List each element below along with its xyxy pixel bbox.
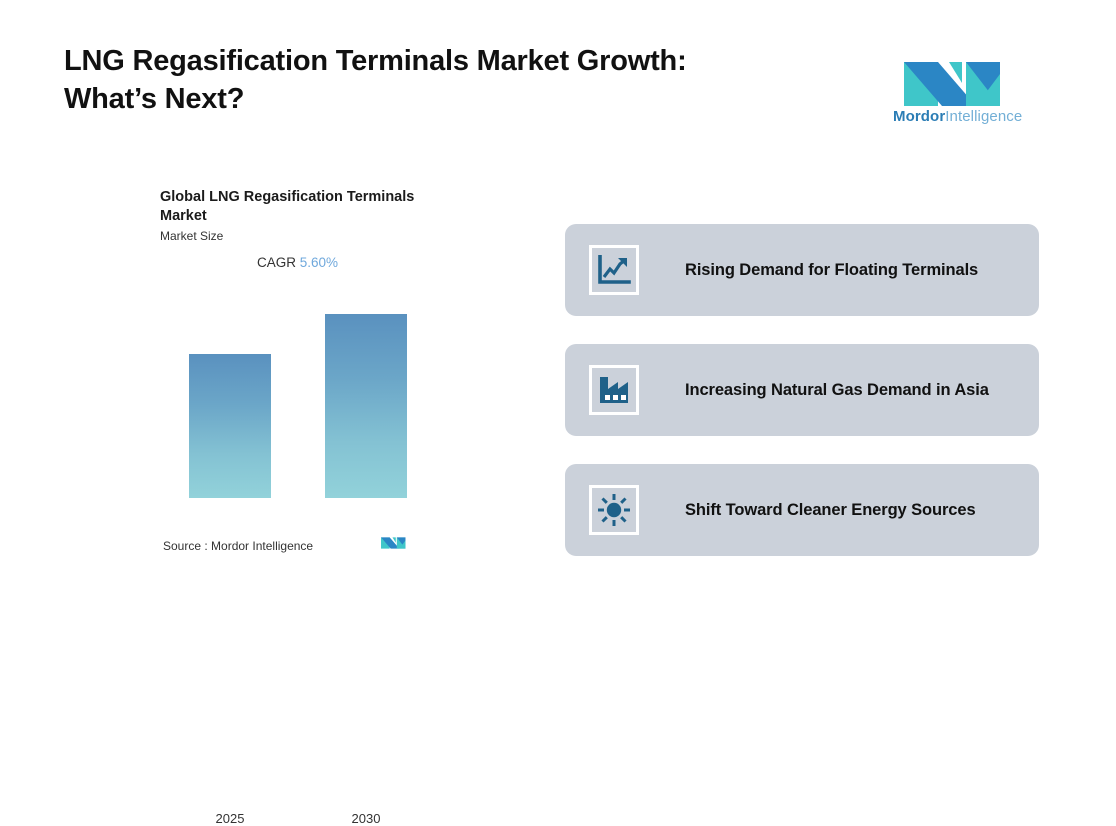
brand-logo: MordorIntelligence (893, 50, 1017, 132)
mordor-m-logo-icon (380, 533, 408, 550)
brand-wordmark: MordorIntelligence (893, 108, 1017, 125)
insight-card-cleaner-energy[interactable]: Shift Toward Cleaner Energy Sources (565, 464, 1039, 556)
mordor-m-logo-icon (900, 50, 1010, 106)
insight-card-label: Shift Toward Cleaner Energy Sources (685, 464, 976, 556)
card-icon-frame (589, 365, 639, 415)
insight-card-natural-gas-asia[interactable]: Increasing Natural Gas Demand in Asia (565, 344, 1039, 436)
bar-label-2025: 2025 (189, 811, 271, 826)
card-icon-frame (589, 485, 639, 535)
chart-panel: Global LNG Regasification Terminals Mark… (160, 188, 440, 558)
page-title-line-2: What’s Next? (64, 80, 824, 118)
chart-source-label: Source : (163, 539, 208, 553)
brand-wordmark-bold: Mordor (893, 108, 945, 125)
insight-card-label: Increasing Natural Gas Demand in Asia (685, 344, 989, 436)
page-title-line-1: LNG Regasification Terminals Market Grow… (64, 42, 824, 80)
factory-icon (597, 375, 631, 405)
insight-card-floating-terminals[interactable]: Rising Demand for Floating Terminals (565, 224, 1039, 316)
growth-chart-arrow-icon (597, 255, 631, 285)
chart-source-name: Mordor Intelligence (211, 539, 313, 553)
insight-card-list: Rising Demand for Floating Terminals Inc… (565, 224, 1039, 584)
brand-wordmark-light: Intelligence (945, 108, 1022, 125)
bar-label-2030: 2030 (325, 811, 407, 826)
page-title: LNG Regasification Terminals Market Grow… (64, 42, 824, 118)
insight-card-label: Rising Demand for Floating Terminals (685, 224, 978, 316)
bar-2025 (189, 354, 271, 498)
chart-plot-area: 2025 2030 (160, 188, 440, 498)
sun-icon (597, 493, 631, 527)
chart-source: Source : Mordor Intelligence (163, 539, 313, 553)
card-icon-frame (589, 245, 639, 295)
bar-2030 (325, 314, 407, 498)
